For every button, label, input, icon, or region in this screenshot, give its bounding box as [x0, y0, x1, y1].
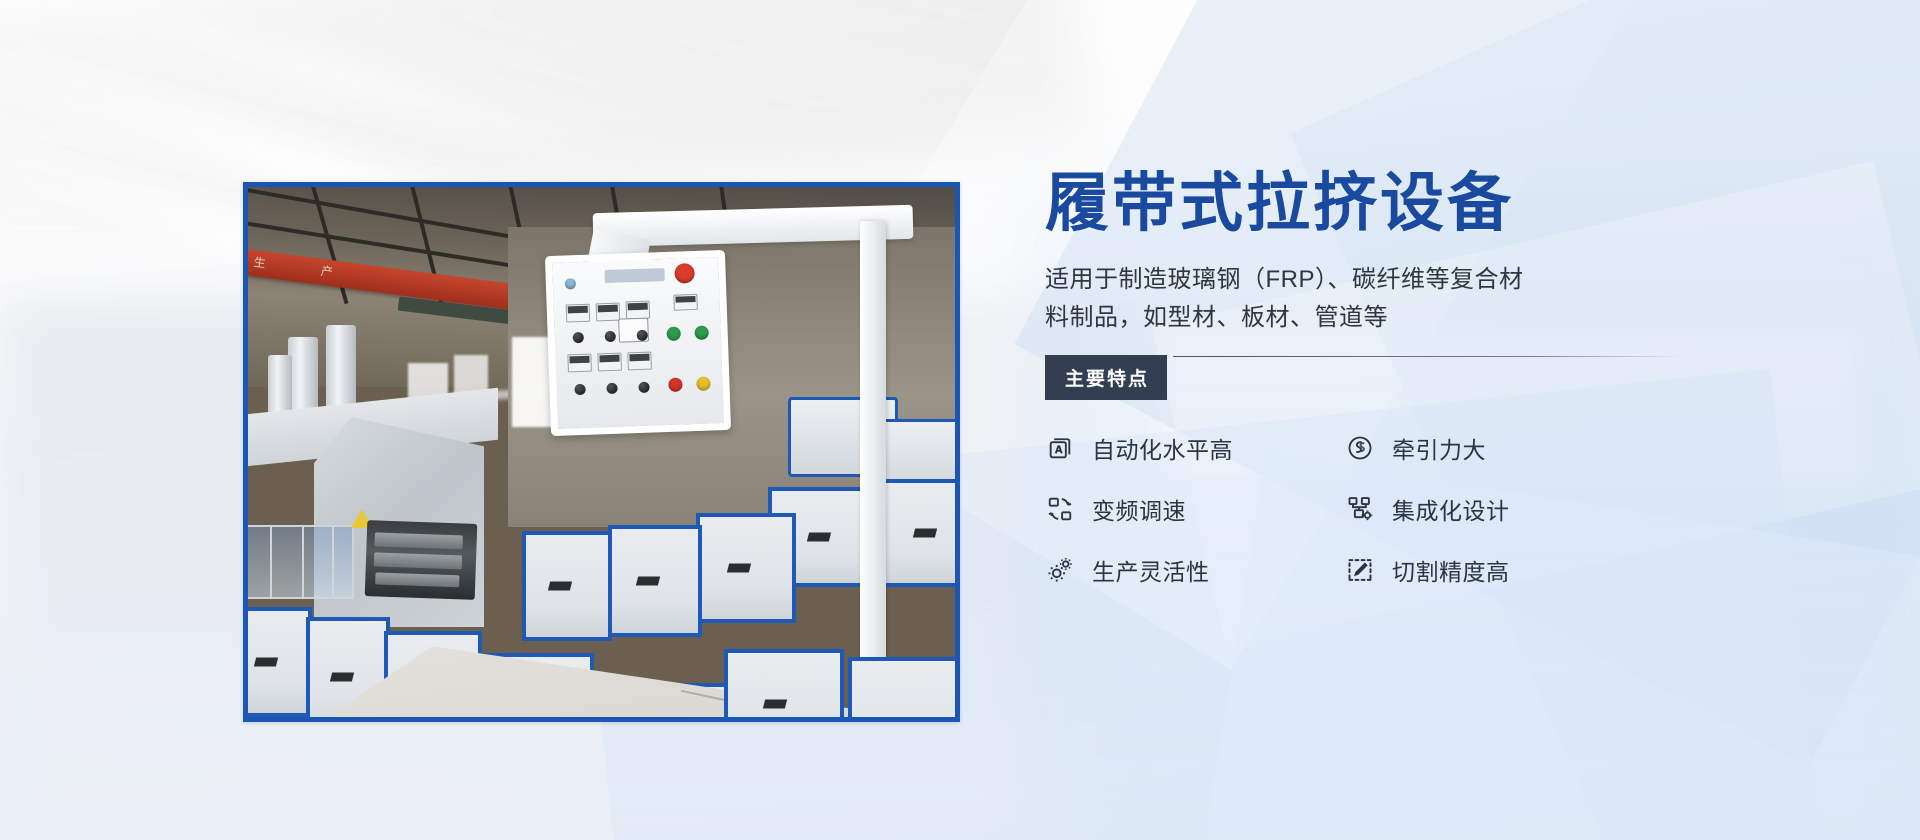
description-line-2: 料制品，如型材、板材、管道等 — [1045, 299, 1645, 337]
feature-item-cut-precision: 切割精度高 — [1345, 553, 1645, 587]
banner-description: 适用于制造玻璃钢（FRP）、碳纤维等复合材 料制品，如型材、板材、管道等 — [1045, 261, 1645, 337]
feature-item-frequency: 变频调速 — [1045, 492, 1345, 526]
feature-item-flexibility: 生产灵活性 — [1045, 553, 1345, 587]
gears-flexibility-icon — [1045, 555, 1075, 585]
photo-panel-logo — [604, 268, 664, 283]
cut-precision-icon — [1345, 555, 1375, 585]
photo-cabinet — [696, 513, 796, 623]
section-divider-row: 主要特点 — [1045, 353, 1665, 397]
banner-stage: 生 产 — [0, 0, 1920, 840]
feature-label: 切割精度高 — [1392, 553, 1510, 587]
photo-cabinet — [848, 657, 955, 717]
description-line-1: 适用于制造玻璃钢（FRP）、碳纤维等复合材 — [1045, 261, 1645, 299]
photo-cabinet — [724, 649, 844, 717]
photo-indicator-lamp — [565, 278, 576, 289]
photo-control-panel — [545, 250, 731, 436]
status-badge: 主要特点 — [1045, 355, 1167, 400]
feature-item-traction: 牵引力大 — [1345, 431, 1645, 465]
page-title: 履带式拉挤设备 — [1045, 170, 1665, 237]
photo-machine-window — [248, 525, 354, 599]
integrated-design-icon — [1345, 494, 1375, 524]
photo-indicator-lamp — [668, 377, 682, 391]
photo-indicator-lamp — [666, 327, 680, 341]
product-photo-image: 生 产 — [248, 187, 955, 717]
photo-cabinet — [608, 525, 702, 637]
photo-gantry-column — [860, 221, 886, 701]
photo-indicator-lamp — [696, 377, 710, 391]
feature-label: 生产灵活性 — [1092, 553, 1210, 587]
banner-content: 履带式拉挤设备 适用于制造玻璃钢（FRP）、碳纤维等复合材 料制品，如型材、板材… — [1045, 170, 1665, 587]
feature-label: 自动化水平高 — [1092, 431, 1233, 465]
divider-line — [1173, 356, 1683, 357]
feature-item-automation: 自动化水平高 — [1045, 431, 1345, 465]
feature-label: 变频调速 — [1092, 492, 1186, 526]
feature-list: 自动化水平高 牵引力大 — [1045, 431, 1665, 587]
automation-panel-icon — [1045, 433, 1075, 463]
photo-indicator-lamp — [694, 326, 708, 340]
photo-die-assembly — [365, 520, 478, 600]
traction-force-icon — [1345, 433, 1375, 463]
photo-emergency-stop — [674, 263, 695, 284]
product-photo: 生 产 — [243, 182, 960, 722]
feature-item-integrated: 集成化设计 — [1345, 492, 1645, 526]
feature-label: 牵引力大 — [1392, 431, 1486, 465]
photo-cabinet — [878, 479, 955, 587]
frequency-convert-icon — [1045, 494, 1075, 524]
feature-label: 集成化设计 — [1392, 492, 1510, 526]
photo-cabinet — [248, 607, 312, 717]
photo-cabinet — [522, 531, 612, 641]
